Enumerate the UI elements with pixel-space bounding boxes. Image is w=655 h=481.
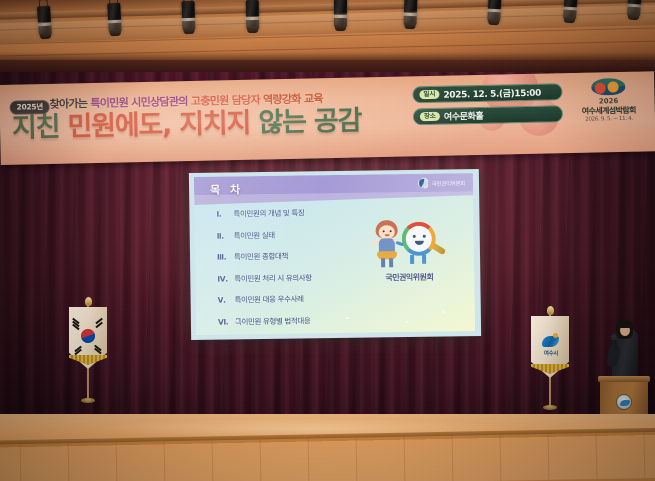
- taeguk-symbol-icon: [81, 329, 95, 343]
- agenda-item-text: 특이민원의 개념 및 특징: [233, 207, 304, 219]
- speaker-hair-front: [616, 320, 633, 328]
- stage-light-icon: [334, 0, 347, 28]
- title-word-3: 지치지: [179, 108, 251, 140]
- ceiling: [0, 0, 655, 66]
- agenda-item: Ⅰ. 특이민원의 개념 및 특징: [216, 207, 366, 220]
- expo-logo: 2026 여수세계섬박람회 2026. 9. 5. ~ 11. 4.: [566, 77, 651, 123]
- stage-light-icon: [487, 0, 502, 22]
- banner-info-row-datetime: 일시 2025. 12. 5.(금)15:00: [412, 83, 562, 103]
- agenda-item-number: Ⅲ.: [217, 252, 228, 261]
- agenda-item: Ⅳ. 특이민원 처리 시 유의사항: [217, 271, 367, 284]
- agenda-item-number: Ⅴ.: [218, 295, 229, 304]
- yeosu-flag-label: 여수시: [539, 349, 563, 357]
- banner-subtitle-part-b: 특이민원 시민상담관의: [90, 95, 188, 110]
- banner-subtitle-part-a: 찾아가는: [49, 97, 87, 111]
- agenda-item-text: 특이민원 실태: [234, 229, 275, 241]
- banner-info-box: 일시 2025. 12. 5.(금)15:00 장소 여수문화홀: [412, 83, 563, 125]
- title-word-4: 않는: [258, 107, 306, 139]
- agenda-item-number: Ⅳ.: [217, 274, 228, 283]
- agenda-item-number: Ⅰ.: [216, 209, 227, 218]
- title-word-2: 민원에도,: [67, 109, 171, 142]
- agenda-list: Ⅰ. 특이민원의 개념 및 특징 Ⅱ. 특이민원 실태 Ⅲ. 특이민원 종합대책…: [216, 207, 368, 335]
- mascot-label: 국민권익위원회: [366, 271, 452, 283]
- flag-fringe: [531, 364, 569, 374]
- agenda-item-number: Ⅵ.: [218, 317, 229, 326]
- stage-floor: [0, 414, 655, 481]
- expo-dates: 2026. 9. 5. ~ 11. 4.: [567, 115, 651, 124]
- acrc-logo: 국민권익위원회: [418, 177, 465, 189]
- lighting-truss: [0, 0, 655, 20]
- stage-light-icon: [37, 6, 52, 37]
- info-value-location: 여수문화홀: [444, 109, 484, 123]
- flag-base: [543, 405, 557, 410]
- agenda-item-text: 특이민원 종합대책: [234, 251, 288, 263]
- stage-light-icon: [246, 0, 260, 30]
- title-word-5: 공감: [314, 105, 362, 137]
- yeosu-emblem-dot-icon: [553, 333, 558, 338]
- stage-light-icon: [563, 0, 578, 20]
- magnifier-mascot-icon: [402, 221, 447, 266]
- flag-base: [81, 398, 95, 403]
- stage-light-icon: [181, 1, 195, 31]
- stage-light-icon: [107, 3, 122, 34]
- agenda-item: Ⅲ. 특이민원 종합대책: [217, 250, 367, 263]
- presentation-slide: 목 차 국민권익위원회 Ⅰ. 특이민원의 개념 및 특징 Ⅱ. 특이민원 실태 …: [194, 173, 475, 335]
- expo-mark-icon: [591, 78, 625, 96]
- info-key-datetime: 일시: [419, 90, 439, 99]
- banner-subtitle-part-c: 고충민원 담당자: [191, 94, 260, 108]
- info-value-datetime: 2025. 12. 5.(금)15:00: [443, 86, 541, 101]
- flag-fringe: [69, 355, 107, 365]
- event-banner: 2025년 찾아가는 특이민원 시민상담관의 고충민원 담당자 역량강화 교육 …: [0, 71, 655, 165]
- agenda-item-text: 특이민원 처리 시 유의사항: [234, 272, 312, 284]
- projection-screen: 목 차 국민권익위원회 Ⅰ. 특이민원의 개념 및 특징 Ⅱ. 특이민원 실태 …: [189, 169, 481, 340]
- acrc-logo-text: 국민권익위원회: [432, 179, 465, 187]
- agenda-item: Ⅴ. 특이민원 대응 우수사례: [218, 293, 368, 306]
- flag-yeosu: 여수시: [528, 312, 572, 406]
- banner-subtitle-part-d: 역량강화 교육: [263, 92, 323, 106]
- agenda-item-number: Ⅱ.: [217, 231, 228, 240]
- agenda-item-text: 특이민원 대응 우수사례: [235, 293, 304, 305]
- agenda-item-text: 특이민원 유형별 법적대응: [235, 315, 311, 327]
- banner-info-row-location: 장소 여수문화홀: [413, 105, 563, 125]
- slide-title: 목 차: [210, 181, 243, 197]
- acrc-emblem-icon: [418, 178, 429, 189]
- photo-scene: 2025년 찾아가는 특이민원 시민상담관의 고충민원 담당자 역량강화 교육 …: [0, 0, 655, 481]
- title-word-1: 지친: [12, 112, 60, 144]
- mascot-group: 국민권익위원회: [366, 217, 453, 283]
- flag-korea: [66, 303, 110, 399]
- podium-top: [598, 376, 650, 382]
- banner-main-title: 지친 민원에도, 지치지 않는 공감: [12, 107, 362, 141]
- stage-light-icon: [403, 0, 417, 26]
- info-key-location: 장소: [420, 112, 440, 121]
- stage-light-icon: [627, 0, 642, 17]
- agenda-item: Ⅱ. 특이민원 실태: [217, 228, 367, 241]
- podium-emblem-icon: [616, 394, 632, 410]
